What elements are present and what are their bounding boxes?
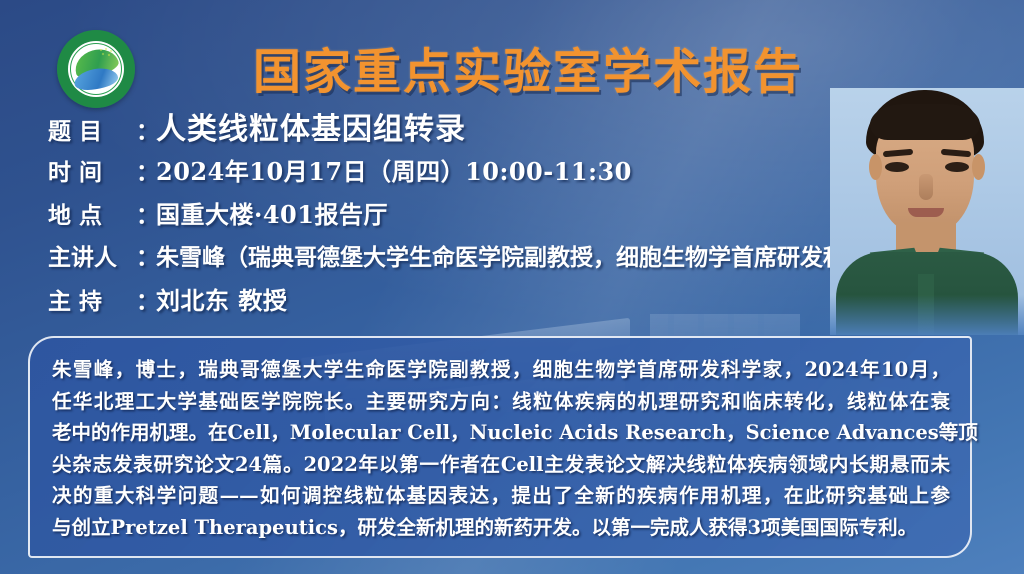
bio-line: 老中的作用机理。在Cell，Molecular Cell，Nucleic Aci… bbox=[52, 417, 950, 449]
info-label-location: 地 点 ： bbox=[48, 196, 156, 230]
info-value-time: 2024年10月17日（周四）10:00-11:30 bbox=[156, 152, 632, 187]
bio-line: 任华北理工大学基础医学院院长。主要研究方向：线粒体疾病的机理研究和临床转化，线粒… bbox=[52, 386, 950, 418]
speaker-bio-panel: 朱雪峰，博士，瑞典哥德堡大学生命医学院副教授，细胞生物学首席研发科学家，2024… bbox=[28, 336, 972, 558]
bio-line: 决的重大科学问题——如何调控线粒体基因表达，提出了全新的疾病作用机理，在此研究基… bbox=[52, 480, 950, 512]
info-label-topic: 题 目 ： bbox=[48, 112, 156, 146]
poster-header: 国家重点实验室学术报告 bbox=[0, 8, 1024, 100]
bio-line: 朱雪峰，博士，瑞典哥德堡大学生命医学院副教授，细胞生物学首席研发科学家，2024… bbox=[52, 354, 950, 386]
bio-line: 与创立Pretzel Therapeutics，研发全新机理的新药开发。以第一完… bbox=[52, 512, 950, 544]
info-value-topic: 人类线粒体基因组转录 bbox=[156, 104, 466, 148]
info-value-host: 刘北东 教授 bbox=[156, 281, 287, 316]
info-label-speaker: 主讲人 ： bbox=[48, 238, 156, 272]
state-key-laboratory-logo-icon bbox=[57, 30, 135, 108]
seminar-poster: 国家重点实验室学术报告 题 目 ： 人类线粒体基因组转录 时 间 ： 2024年… bbox=[0, 0, 1024, 574]
bio-line: 尖杂志发表研究论文24篇。2022年以第一作者在Cell主发表论文解决线粒体疾病… bbox=[52, 449, 950, 481]
poster-title: 国家重点实验室学术报告 bbox=[208, 32, 848, 102]
info-label-host: 主 持 ： bbox=[48, 282, 156, 316]
info-label-time: 时 间 ： bbox=[48, 153, 156, 187]
info-value-location: 国重大楼·401报告厅 bbox=[156, 195, 388, 230]
info-value-speaker: 朱雪峰（瑞典哥德堡大学生命医学院副教授，细胞生物学首席研发科学家） bbox=[156, 238, 915, 272]
speaker-portrait-photo bbox=[830, 88, 1024, 335]
